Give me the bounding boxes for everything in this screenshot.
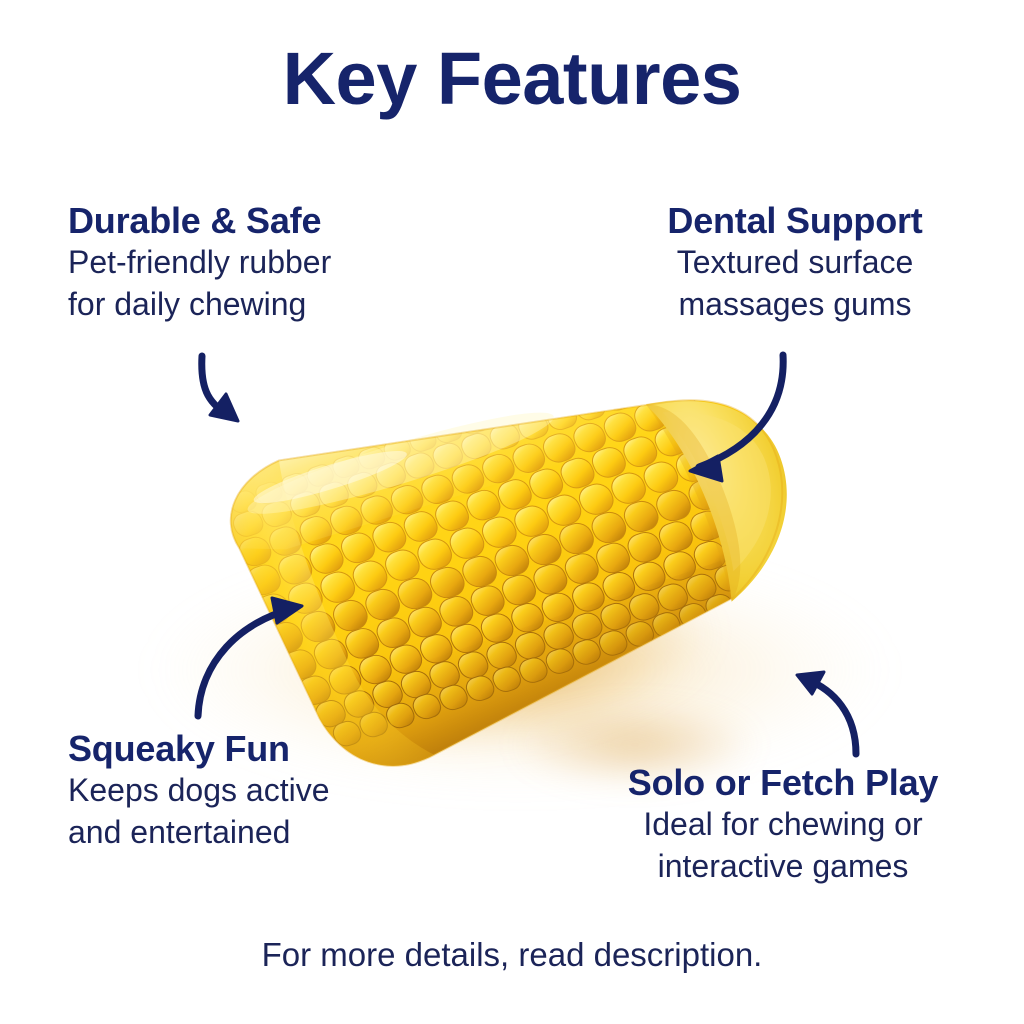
feature-desc-line-2: for daily chewing [68, 284, 331, 326]
feature-dental-support: Dental Support Textured surface massages… [600, 200, 990, 326]
footer-note: For more details, read description. [0, 936, 1024, 974]
corn-top-highlight [213, 303, 683, 605]
feature-desc-line-2: massages gums [600, 284, 990, 326]
feature-desc-line-1: Textured surface [600, 242, 990, 284]
page-title: Key Features [0, 42, 1024, 116]
corn-body [213, 275, 832, 794]
feature-desc-line-1: Ideal for chewing or [583, 804, 983, 846]
corn-kernel-texture [204, 287, 803, 797]
arrow-top-right-icon [690, 355, 783, 481]
arrow-top-left-icon [202, 356, 238, 421]
feature-desc-line-1: Pet-friendly rubber [68, 242, 331, 284]
feature-title: Solo or Fetch Play [583, 762, 983, 804]
feature-durable-safe: Durable & Safe Pet-friendly rubber for d… [68, 200, 331, 326]
feature-title: Durable & Safe [68, 200, 331, 242]
feature-squeaky-fun: Squeaky Fun Keeps dogs active and entert… [68, 728, 330, 854]
feature-desc-line-2: interactive games [583, 846, 983, 888]
infographic-canvas: Key Features Durable & Safe Pet-friendly… [0, 0, 1024, 1024]
feature-desc-line-2: and entertained [68, 812, 330, 854]
corn-specular-highlight-2 [250, 442, 410, 512]
arrow-bottom-right-icon [797, 672, 856, 754]
corn-right-cap [644, 363, 826, 601]
feature-desc-line-1: Keeps dogs active [68, 770, 330, 812]
arrow-bottom-left-icon [198, 598, 302, 716]
feature-solo-or-fetch-play: Solo or Fetch Play Ideal for chewing or … [583, 762, 983, 888]
corn-outline [213, 275, 832, 794]
corn-bottom-shade [311, 510, 780, 792]
feature-title: Dental Support [600, 200, 990, 242]
feature-title: Squeaky Fun [68, 728, 330, 770]
corn-specular-highlight [242, 397, 560, 529]
